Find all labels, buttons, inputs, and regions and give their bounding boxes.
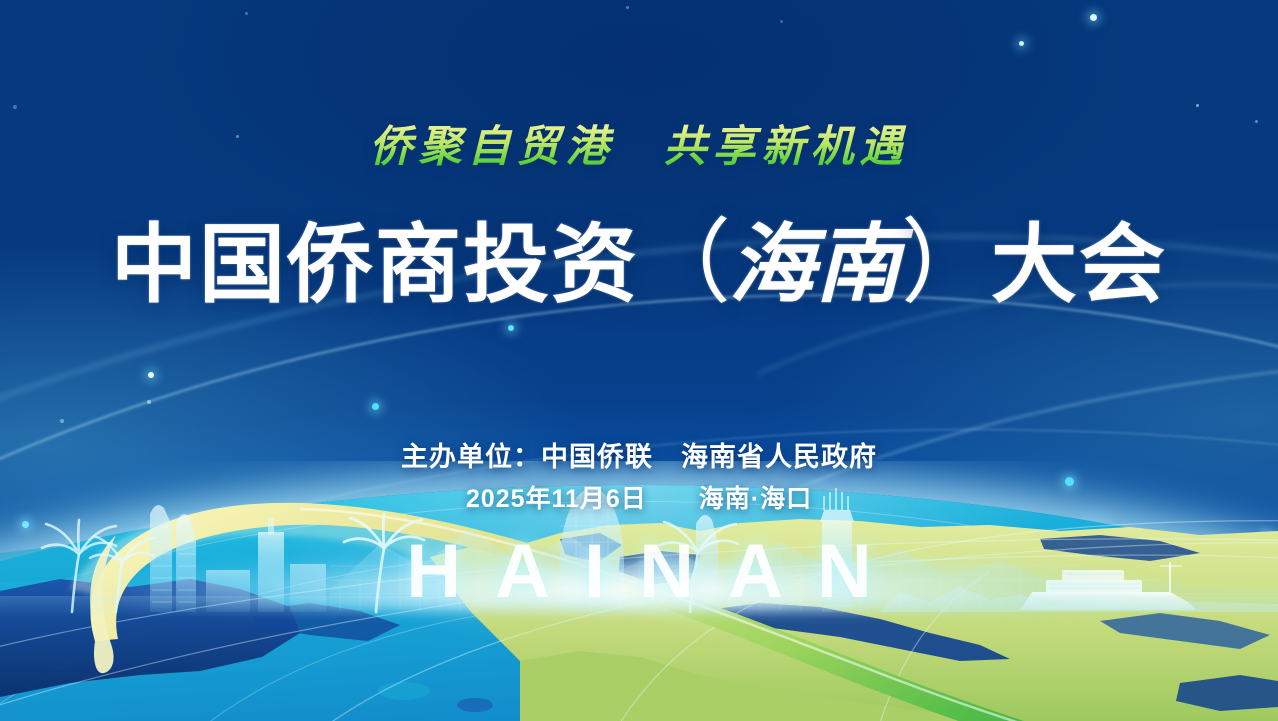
- page-title: 中国侨商投资（海南）大会: [0, 188, 1278, 321]
- poster-subtitle: 侨聚自贸港 共享新机遇: [0, 112, 1278, 174]
- conference-backdrop: HAINAN 侨聚自贸港 共享新机遇 中国侨商投资（海南）大会 主办单位：中国侨…: [0, 0, 1278, 721]
- title-segment-suffix: 大会: [991, 217, 1167, 313]
- title-segment-prefix: 中国侨商投资: [111, 217, 639, 313]
- title-region-hainan: 海南: [729, 217, 901, 313]
- title-paren-open: （: [639, 212, 729, 314]
- event-date-location: 2025年11月6日 海南·海口: [0, 479, 1278, 515]
- title-paren-close: ）: [901, 212, 991, 314]
- globe-sphere: [0, 485, 1278, 721]
- host-organizations: 主办单位：中国侨联 海南省人民政府: [0, 435, 1278, 474]
